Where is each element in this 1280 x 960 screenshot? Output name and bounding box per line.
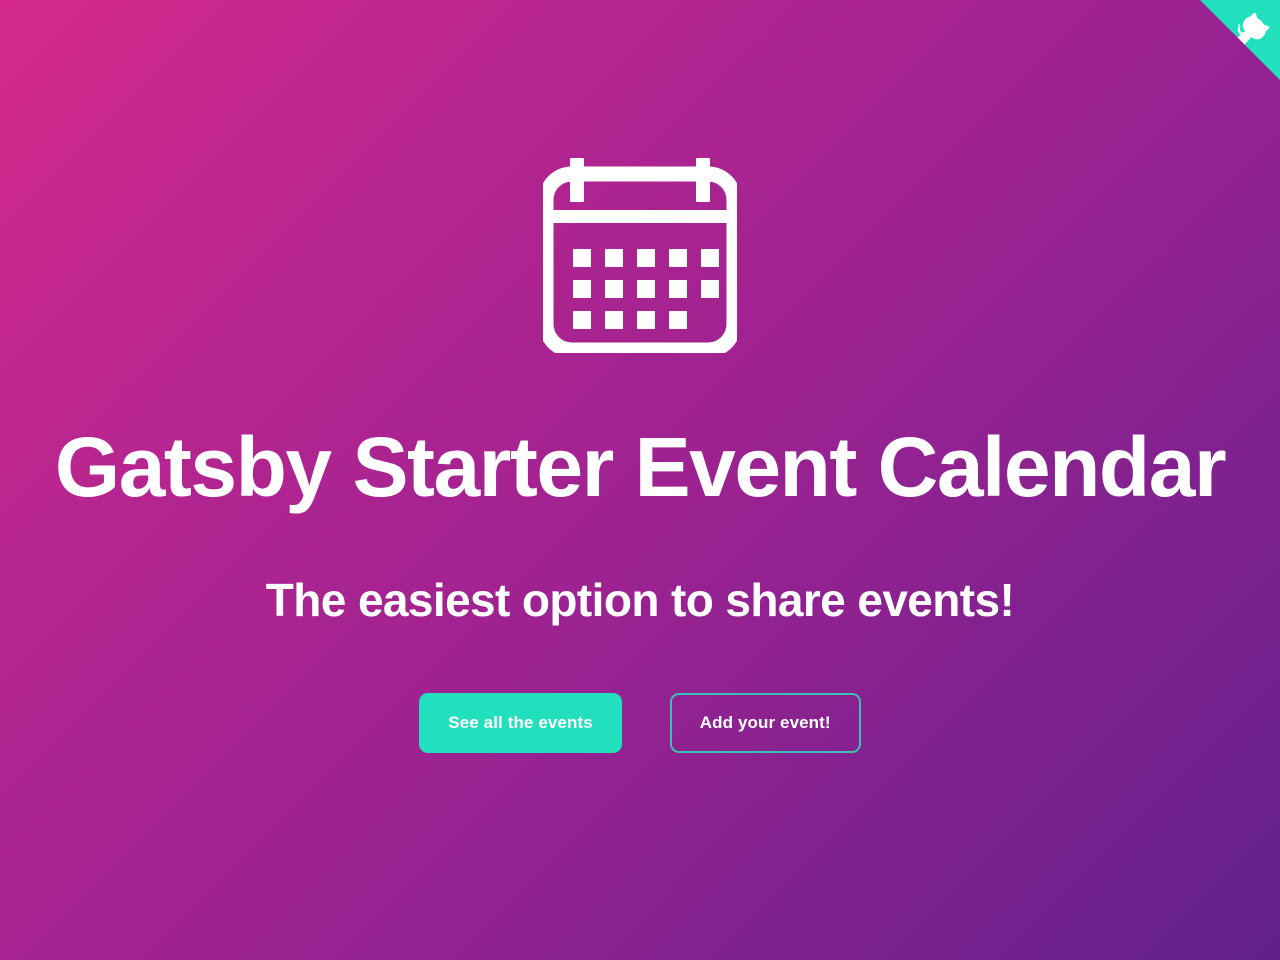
- page-subtitle: The easiest option to share events!: [266, 573, 1014, 627]
- cta-button-row: See all the events Add your event!: [419, 693, 860, 753]
- github-octocat-icon: [1200, 0, 1280, 80]
- github-corner-link[interactable]: [1200, 0, 1280, 80]
- calendar-icon: [543, 155, 737, 353]
- hero-section: Gatsby Starter Event Calendar The easies…: [0, 0, 1280, 960]
- page-title: Gatsby Starter Event Calendar: [55, 425, 1225, 511]
- see-all-events-button[interactable]: See all the events: [419, 693, 621, 753]
- add-your-event-button[interactable]: Add your event!: [670, 693, 861, 753]
